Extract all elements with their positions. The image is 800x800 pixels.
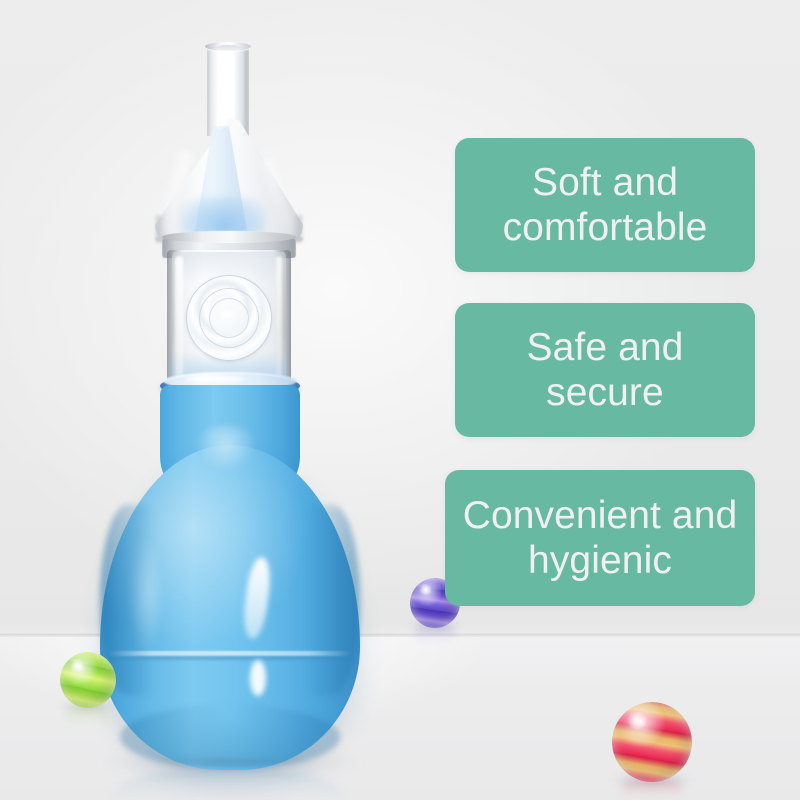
feature-badge-convenient-and-hygienic: Convenient and hygienic — [445, 470, 755, 606]
feature-badge-label: Safe and secure — [513, 325, 698, 415]
feature-badge-label: Soft and comfortable — [489, 160, 722, 250]
feature-badge-safe-and-secure: Safe and secure — [455, 303, 755, 437]
feature-badge-group: Soft and comfortable Safe and secure Con… — [0, 0, 800, 800]
feature-badge-soft-and-comfortable: Soft and comfortable — [455, 138, 755, 272]
product-image-canvas: Soft and comfortable Safe and secure Con… — [0, 0, 800, 800]
feature-badge-label: Convenient and hygienic — [455, 493, 746, 583]
